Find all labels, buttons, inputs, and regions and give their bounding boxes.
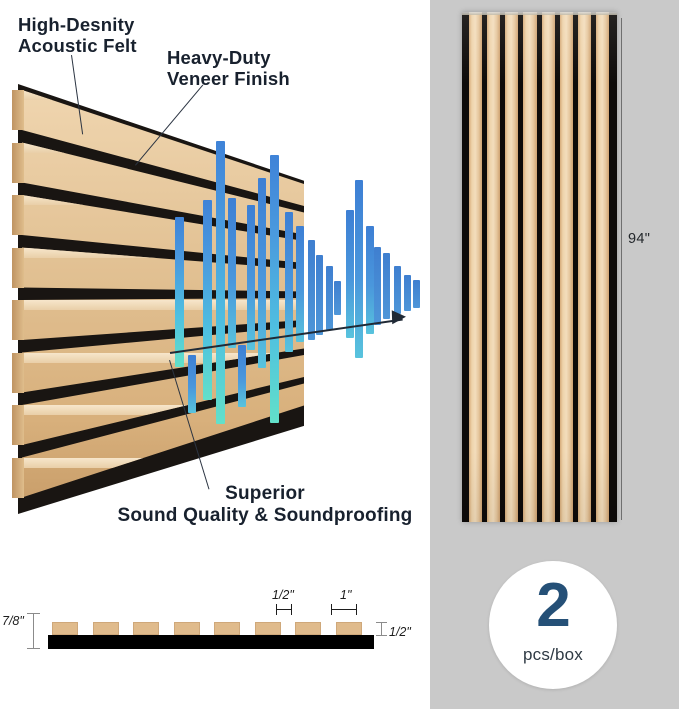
soundwave-bar xyxy=(374,247,381,325)
callout-veneer-finish-line1: Heavy-Duty xyxy=(167,47,271,68)
soundwave-arrow-head xyxy=(392,310,406,324)
soundwave-bar xyxy=(216,141,225,424)
dim-tick-slatt-top xyxy=(376,622,387,623)
quantity-badge: 2 pcs/box xyxy=(489,561,617,689)
soundwave-bar xyxy=(203,200,212,400)
cross-section-slat xyxy=(295,622,321,635)
soundwave-bar xyxy=(346,210,354,338)
dim-tick-slatw-left xyxy=(331,604,332,615)
callout-sound-quality-line2: Sound Quality & Soundproofing xyxy=(100,505,430,527)
cross-section-felt-base xyxy=(48,635,374,649)
soundwave-bar xyxy=(334,281,341,315)
dim-tick-slatw-right xyxy=(356,604,357,615)
height-dimension-label: 94" xyxy=(628,231,650,247)
soundwave-bar xyxy=(355,180,363,358)
dim-tick-total-top xyxy=(27,613,40,614)
cross-section-slat xyxy=(93,622,119,635)
callout-sound-quality: Superior Sound Quality & Soundproofing xyxy=(100,483,430,527)
cross-section-diagram: 7/8" 1/2" 1" 1/2" xyxy=(0,551,430,709)
soundwave-bar xyxy=(175,217,184,367)
soundwave-bar xyxy=(366,226,374,334)
cross-section-slat xyxy=(174,622,200,635)
soundwave-bar xyxy=(316,255,323,335)
cross-section-slat xyxy=(255,622,281,635)
soundwave-bar xyxy=(394,266,401,314)
dim-label-slat-width: 1" xyxy=(340,588,351,602)
soundwave-bar xyxy=(308,240,315,340)
right-product-pane: 94" 2 pcs/box xyxy=(430,0,679,709)
vertical-slat-panel xyxy=(462,12,617,522)
infographic-canvas: High-Desnity Acoustic Felt Heavy-Duty Ve… xyxy=(0,0,679,709)
badge-unit-label: pcs/box xyxy=(489,645,617,665)
soundwave-bar xyxy=(238,345,246,407)
soundwave-bar xyxy=(247,205,255,350)
cross-section-slat xyxy=(133,622,159,635)
dim-tick-slatt-bottom xyxy=(376,635,387,636)
soundwave-bar xyxy=(326,266,333,330)
dim-line-total-thickness xyxy=(33,613,34,649)
height-dimension-line xyxy=(621,18,622,520)
dim-line-slat-width xyxy=(331,609,357,610)
dim-tick-gap-right xyxy=(291,604,292,615)
dim-label-total-thickness: 7/8" xyxy=(2,614,24,628)
callout-acoustic-felt-line2: Acoustic Felt xyxy=(18,35,137,56)
soundwave-bar xyxy=(228,198,236,348)
cross-section-slat xyxy=(214,622,240,635)
panel-sheen-overlay xyxy=(462,12,617,522)
soundwave-bar xyxy=(296,226,304,342)
dim-label-slat-thickness: 1/2" xyxy=(389,625,411,639)
callout-sound-quality-line1: Superior xyxy=(100,483,430,505)
cross-section-slat xyxy=(52,622,78,635)
callout-veneer-finish: Heavy-Duty Veneer Finish xyxy=(167,47,290,90)
callout-veneer-finish-line2: Veneer Finish xyxy=(167,68,290,89)
soundwave-bar xyxy=(188,355,196,413)
soundwave-bar xyxy=(270,155,279,423)
soundwave-bar xyxy=(383,253,390,319)
badge-quantity-number: 2 xyxy=(489,575,617,637)
callout-acoustic-felt: High-Desnity Acoustic Felt xyxy=(18,14,137,57)
dim-tick-total-bottom xyxy=(27,648,40,649)
cross-section-slat xyxy=(336,622,362,635)
left-illustration-pane: High-Desnity Acoustic Felt Heavy-Duty Ve… xyxy=(0,0,430,551)
dim-label-gap-width: 1/2" xyxy=(272,588,294,602)
soundwave-bar xyxy=(285,212,293,352)
soundwave-bar xyxy=(404,275,411,311)
callout-acoustic-felt-line1: High-Desnity xyxy=(18,14,135,35)
dim-line-gap-width xyxy=(276,609,292,610)
soundwave-bar xyxy=(413,280,420,308)
dim-tick-gap-left xyxy=(276,604,277,615)
